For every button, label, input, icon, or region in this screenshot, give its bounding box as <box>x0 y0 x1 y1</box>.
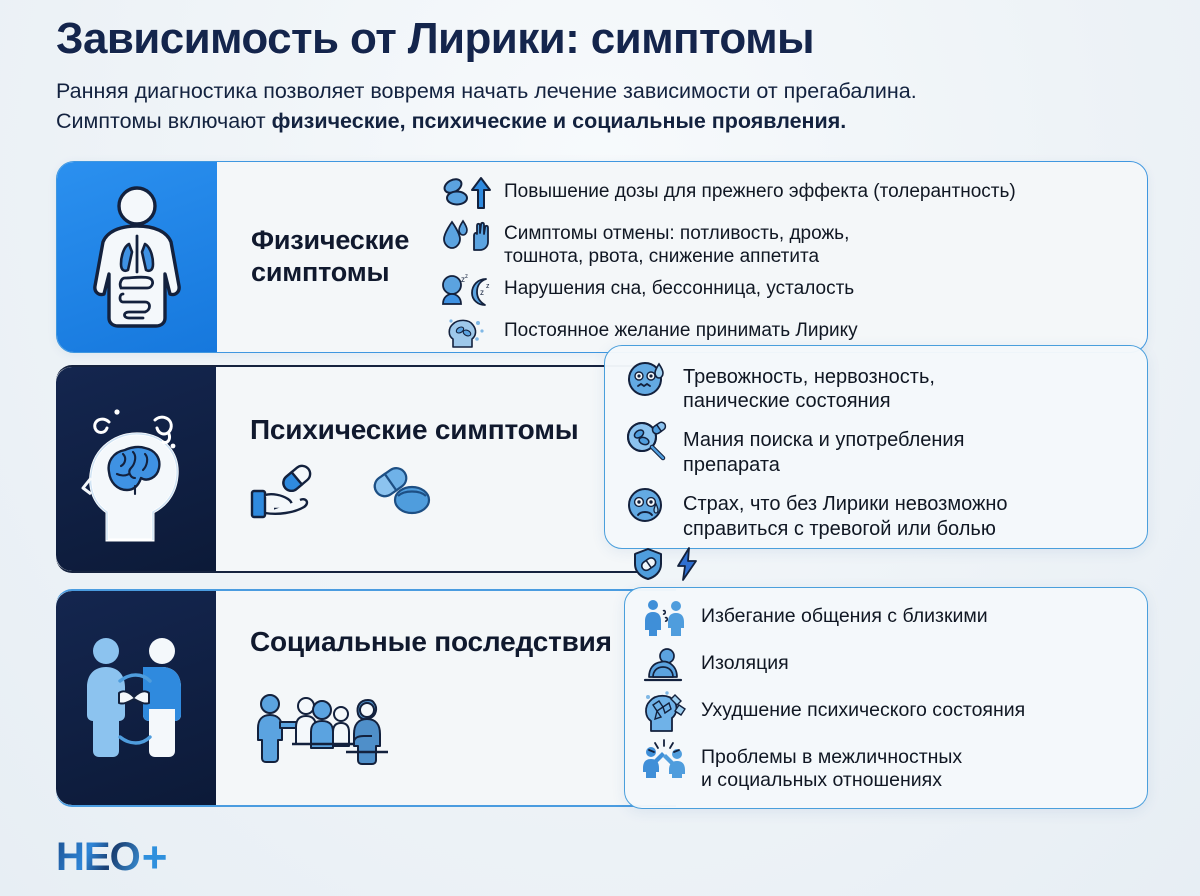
list-item-label: Страх, что без Лирики невозможно справит… <box>683 485 1008 541</box>
mental-heading: Психические симптомы <box>250 413 656 446</box>
list-item-label: Мания поиска и употребления препарата <box>683 421 964 477</box>
physical-icon-panel <box>57 162 217 352</box>
list-item-label: Ухудшение психического состояния <box>701 692 1025 723</box>
social-bullet-panel: Избегание общения с близкими Изоляция <box>624 587 1148 809</box>
hand-with-capsule-icon <box>250 463 328 524</box>
brand-logo[interactable]: НЕО + <box>56 835 166 880</box>
list-item[interactable]: Симптомы отмены: потливость, дрожь, тошн… <box>440 215 1148 268</box>
list-item-label: Симптомы отмены: потливость, дрожь, тошн… <box>504 215 849 268</box>
two-people-handshake-icon <box>72 633 200 763</box>
social-heading: Социальные последствия <box>250 625 676 658</box>
logo-plus-icon: + <box>142 840 167 875</box>
craving-head-icon <box>440 312 494 352</box>
mental-icon-panel <box>56 367 216 571</box>
sitting-alone-icon <box>637 645 691 685</box>
person-turning-away-icon <box>637 598 691 638</box>
svg-text:z: z <box>486 283 490 290</box>
head-brain-icon <box>73 394 199 544</box>
page-subtitle: Ранняя диагностика позволяет вовремя нач… <box>56 77 1161 136</box>
header: Зависимость от Лирики: симптомы Ранняя д… <box>0 0 1200 137</box>
list-item[interactable]: Изоляция <box>637 645 1147 685</box>
mental-decorative-icons <box>250 462 656 525</box>
group-avoidance-icon <box>250 682 410 771</box>
sweat-drops-hand-icon <box>440 215 494 255</box>
sleep-moon-icon: z z z z <box>440 270 494 310</box>
pills-up-arrow-icon <box>440 173 494 213</box>
pills-group-icon <box>362 462 436 525</box>
list-item-label: Повышение дозы для прежнего эффекта (тол… <box>504 173 1016 203</box>
list-item[interactable]: Мания поиска и употребления препарата <box>619 421 1147 477</box>
list-item-label: Проблемы в межличностных и социальных от… <box>701 739 962 794</box>
list-item[interactable]: Тревожность, нервозность, панические сос… <box>619 358 1147 414</box>
mental-extra-icons <box>619 547 1147 586</box>
magnifier-pills-icon <box>619 421 673 461</box>
list-item-label: Тревожность, нервозность, панические сос… <box>683 358 935 414</box>
list-item-label: Постоянное желание принимать Лирику <box>504 312 858 342</box>
subtitle-line-1: Ранняя диагностика позволяет вовремя нач… <box>56 79 917 103</box>
social-card-body: Социальные последствия <box>216 591 676 805</box>
list-item[interactable]: Страх, что без Лирики невозможно справит… <box>619 485 1147 541</box>
sad-worried-face-icon <box>619 485 673 525</box>
svg-text:z: z <box>480 288 484 297</box>
section-card-mental[interactable]: Психические симптомы <box>56 365 656 573</box>
section-card-social[interactable]: Социальные последствия <box>56 589 676 807</box>
social-decorative-icons <box>250 682 676 771</box>
list-item[interactable]: Проблемы в межличностных и социальных от… <box>637 739 1147 794</box>
list-item-label: Изоляция <box>701 645 789 676</box>
list-item[interactable]: Избегание общения с близкими <box>637 598 1147 638</box>
anxious-face-icon <box>619 358 673 398</box>
list-item[interactable]: Ухудшение психического состояния <box>637 692 1147 732</box>
logo-text: НЕО <box>56 835 140 880</box>
subtitle-line-2-plain: Симптомы включают <box>56 109 272 133</box>
mental-bullet-panel: Тревожность, нервозность, панические сос… <box>604 345 1148 549</box>
physical-bullet-panel: Повышение дозы для прежнего эффекта (тол… <box>440 165 1148 349</box>
mental-card-body: Психические симптомы <box>216 367 656 571</box>
head-shattered-icon <box>637 692 691 732</box>
shield-capsule-icon <box>633 547 663 586</box>
list-item[interactable]: z z z z Нарушения сна, бессонница, устал… <box>440 270 1148 310</box>
lightning-bolt-icon <box>675 547 699 586</box>
list-item-label: Избегание общения с близкими <box>701 598 988 629</box>
conflict-people-icon <box>637 739 691 779</box>
list-item[interactable]: Повышение дозы для прежнего эффекта (тол… <box>440 173 1148 213</box>
page-title: Зависимость от Лирики: симптомы <box>56 14 1200 63</box>
human-body-organs-icon <box>81 182 193 332</box>
svg-text:z: z <box>465 274 468 280</box>
subtitle-line-2-bold: физические, психические и социальные про… <box>272 109 847 133</box>
social-icon-panel <box>56 591 216 805</box>
list-item-label: Нарушения сна, бессонница, усталость <box>504 270 854 300</box>
